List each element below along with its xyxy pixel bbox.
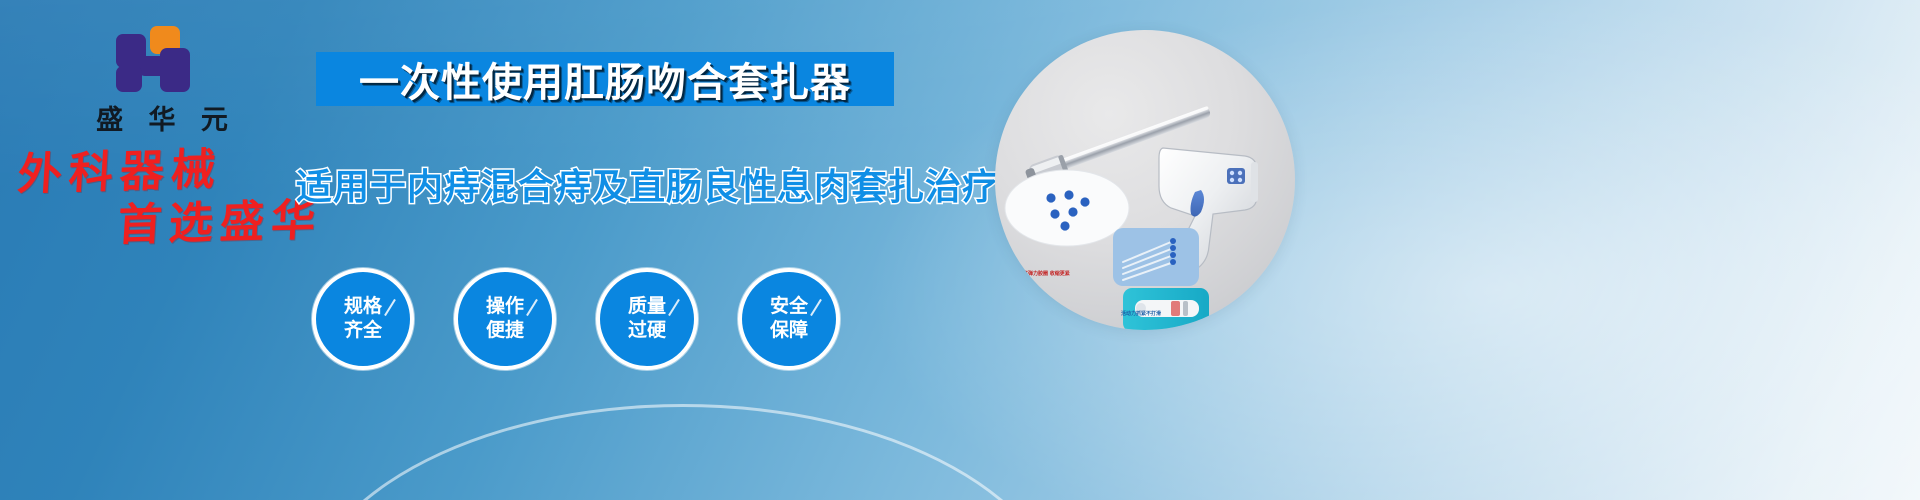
subtitle: 适用于内痔混合痔及直肠良性息肉套扎治疗 xyxy=(296,158,916,210)
slash-icon xyxy=(526,299,538,316)
promotional-banner: 盛 华 元 外科器械 首选盛华 一次性使用肛肠吻合套扎器 适用于内痔混合痔及直肠… xyxy=(0,0,1920,500)
feature-label-line2: 齐全 xyxy=(344,319,382,343)
product-inset-label-1: 高弹力胶圈 收缩更紧 xyxy=(1023,270,1070,277)
feature-label-line1: 操作 xyxy=(486,295,524,319)
feature-label-line2: 保障 xyxy=(770,319,808,343)
feature-badge-specs[interactable]: 规格 齐全 xyxy=(312,268,414,370)
feature-badge-quality[interactable]: 质量 过硬 xyxy=(596,268,698,370)
feature-badge-safety[interactable]: 安全 保障 xyxy=(738,268,840,370)
slash-icon xyxy=(668,299,680,316)
brand-name: 盛 华 元 xyxy=(62,98,262,137)
feature-label-line1: 规格 xyxy=(344,295,382,319)
background-sheen xyxy=(0,0,1920,500)
slash-icon xyxy=(384,299,396,316)
feature-label-line1: 质量 xyxy=(628,295,666,319)
page-title: 一次性使用肛肠吻合套扎器 xyxy=(359,50,851,108)
feature-label-line2: 过硬 xyxy=(628,319,666,343)
brand-logo[interactable]: 盛 华 元 xyxy=(62,26,262,137)
feature-badge-operation[interactable]: 操作 便捷 xyxy=(454,268,556,370)
feature-label-line2: 便捷 xyxy=(486,319,524,343)
decorative-arc xyxy=(300,404,1066,500)
shenghuayuan-blocks-logo-icon xyxy=(116,26,208,92)
product-photo: 高弹力胶圈 收缩更紧 活动力抓紧不打滑 xyxy=(995,30,1295,330)
feature-badge-list: 规格 齐全 操作 便捷 质量 过硬 安全 保障 xyxy=(312,268,840,370)
feature-label-line1: 安全 xyxy=(770,295,808,319)
product-inset-label-2: 活动力抓紧不打滑 xyxy=(1121,310,1161,317)
anorectal-ligation-device-photo-icon xyxy=(995,30,1295,330)
headline-bar: 一次性使用肛肠吻合套扎器 xyxy=(316,52,894,106)
slash-icon xyxy=(810,299,822,316)
